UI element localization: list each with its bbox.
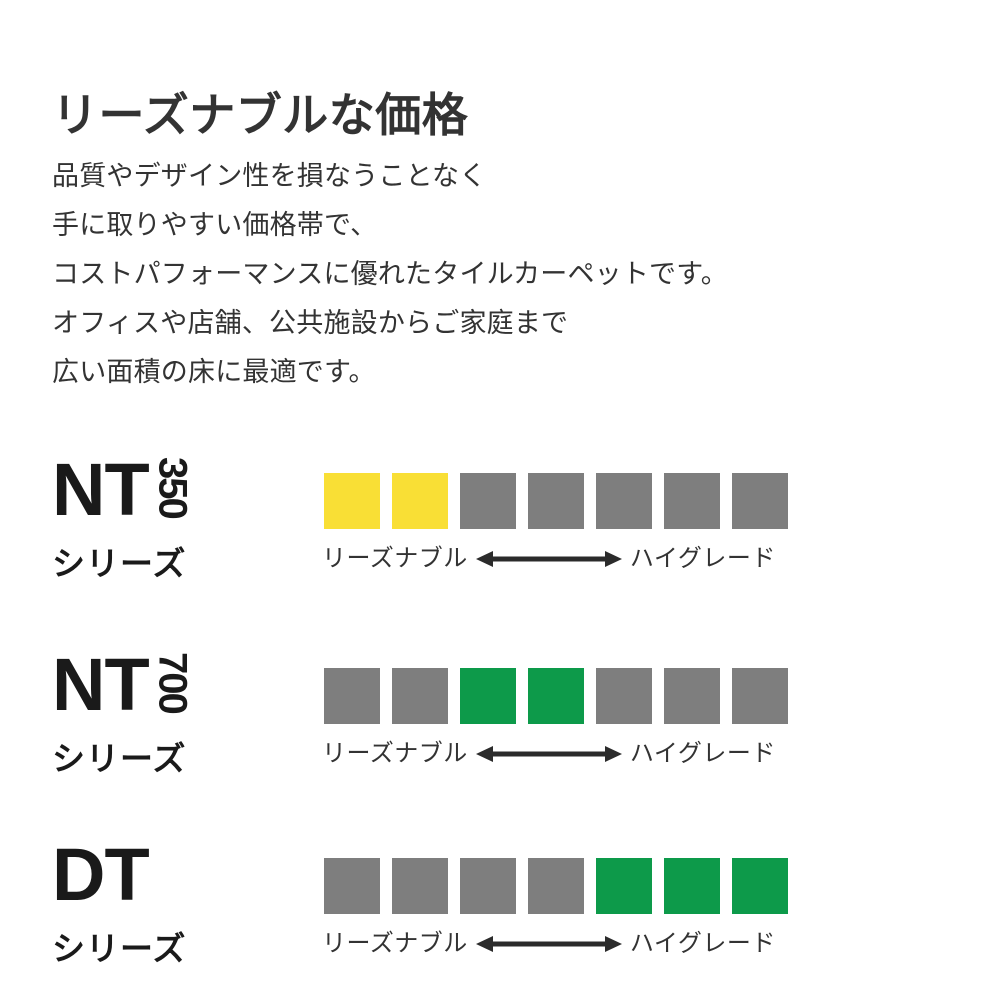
description-paragraph: 品質やデザイン性を損なうことなく 手に取りやすい価格帯で、 コストパフォーマンス… <box>52 152 728 397</box>
price-scale-swatches <box>324 858 788 914</box>
price-scale-swatch <box>392 473 448 529</box>
price-scale-swatch <box>324 473 380 529</box>
price-scale-caption: リーズナブル ハイグレード <box>322 543 776 575</box>
price-scale-swatch <box>732 473 788 529</box>
series-sub-label: シリーズ <box>52 732 302 780</box>
series-code-number: 350 <box>153 457 193 518</box>
series-code-number: 700 <box>153 652 193 713</box>
series-code: NT 700 <box>52 650 302 726</box>
series-label-nt350: NT 350 シリーズ <box>52 455 302 585</box>
price-scale-swatch <box>732 858 788 914</box>
price-scale-swatch <box>596 858 652 914</box>
series-code-alpha: DT <box>52 840 149 910</box>
price-scale-swatch <box>528 668 584 724</box>
description-line: オフィスや店舗、公共施設からご家庭まで <box>52 299 728 348</box>
description-line: 品質やデザイン性を損なうことなく <box>52 152 728 201</box>
price-scale-swatch <box>732 668 788 724</box>
scale-left-label: リーズナブル <box>322 932 468 956</box>
double-headed-arrow-icon <box>476 743 622 765</box>
price-scale-swatch <box>460 858 516 914</box>
scale-right-label: ハイグレード <box>630 742 776 766</box>
price-scale-swatch <box>460 668 516 724</box>
price-scale-swatches <box>324 473 788 529</box>
series-sub-label: シリーズ <box>52 537 302 585</box>
scale-left-label: リーズナブル <box>322 547 468 571</box>
price-scale-swatch <box>528 473 584 529</box>
price-scale-swatch <box>596 473 652 529</box>
description-line: 広い面積の床に最適です。 <box>52 348 728 397</box>
price-scale-swatch <box>392 858 448 914</box>
series-code: NT 350 <box>52 455 302 531</box>
price-scale-swatch <box>460 473 516 529</box>
series-label-nt700: NT 700 シリーズ <box>52 650 302 780</box>
series-label-dt: DT シリーズ <box>52 840 302 970</box>
scale-right-label: ハイグレード <box>630 932 776 956</box>
price-scale-swatch <box>528 858 584 914</box>
price-scale-swatch <box>664 473 720 529</box>
price-scale-swatch <box>664 668 720 724</box>
series-code-alpha: NT <box>52 650 149 720</box>
series-sub-label: シリーズ <box>52 922 302 970</box>
description-line: コストパフォーマンスに優れたタイルカーペットです。 <box>52 250 728 299</box>
double-headed-arrow-icon <box>476 548 622 570</box>
scale-right-label: ハイグレード <box>630 547 776 571</box>
price-scale-swatch <box>392 668 448 724</box>
price-scale-caption: リーズナブル ハイグレード <box>322 928 776 960</box>
series-code: DT <box>52 840 302 916</box>
page-title: リーズナブルな価格 <box>52 89 468 142</box>
series-code-alpha: NT <box>52 455 149 525</box>
price-scale-swatch <box>324 668 380 724</box>
scale-left-label: リーズナブル <box>322 742 468 766</box>
price-scale-swatch <box>324 858 380 914</box>
double-headed-arrow-icon <box>476 933 622 955</box>
price-scale-swatches <box>324 668 788 724</box>
price-scale-swatch <box>596 668 652 724</box>
description-line: 手に取りやすい価格帯で、 <box>52 201 728 250</box>
price-scale-caption: リーズナブル ハイグレード <box>322 738 776 770</box>
price-scale-swatch <box>664 858 720 914</box>
